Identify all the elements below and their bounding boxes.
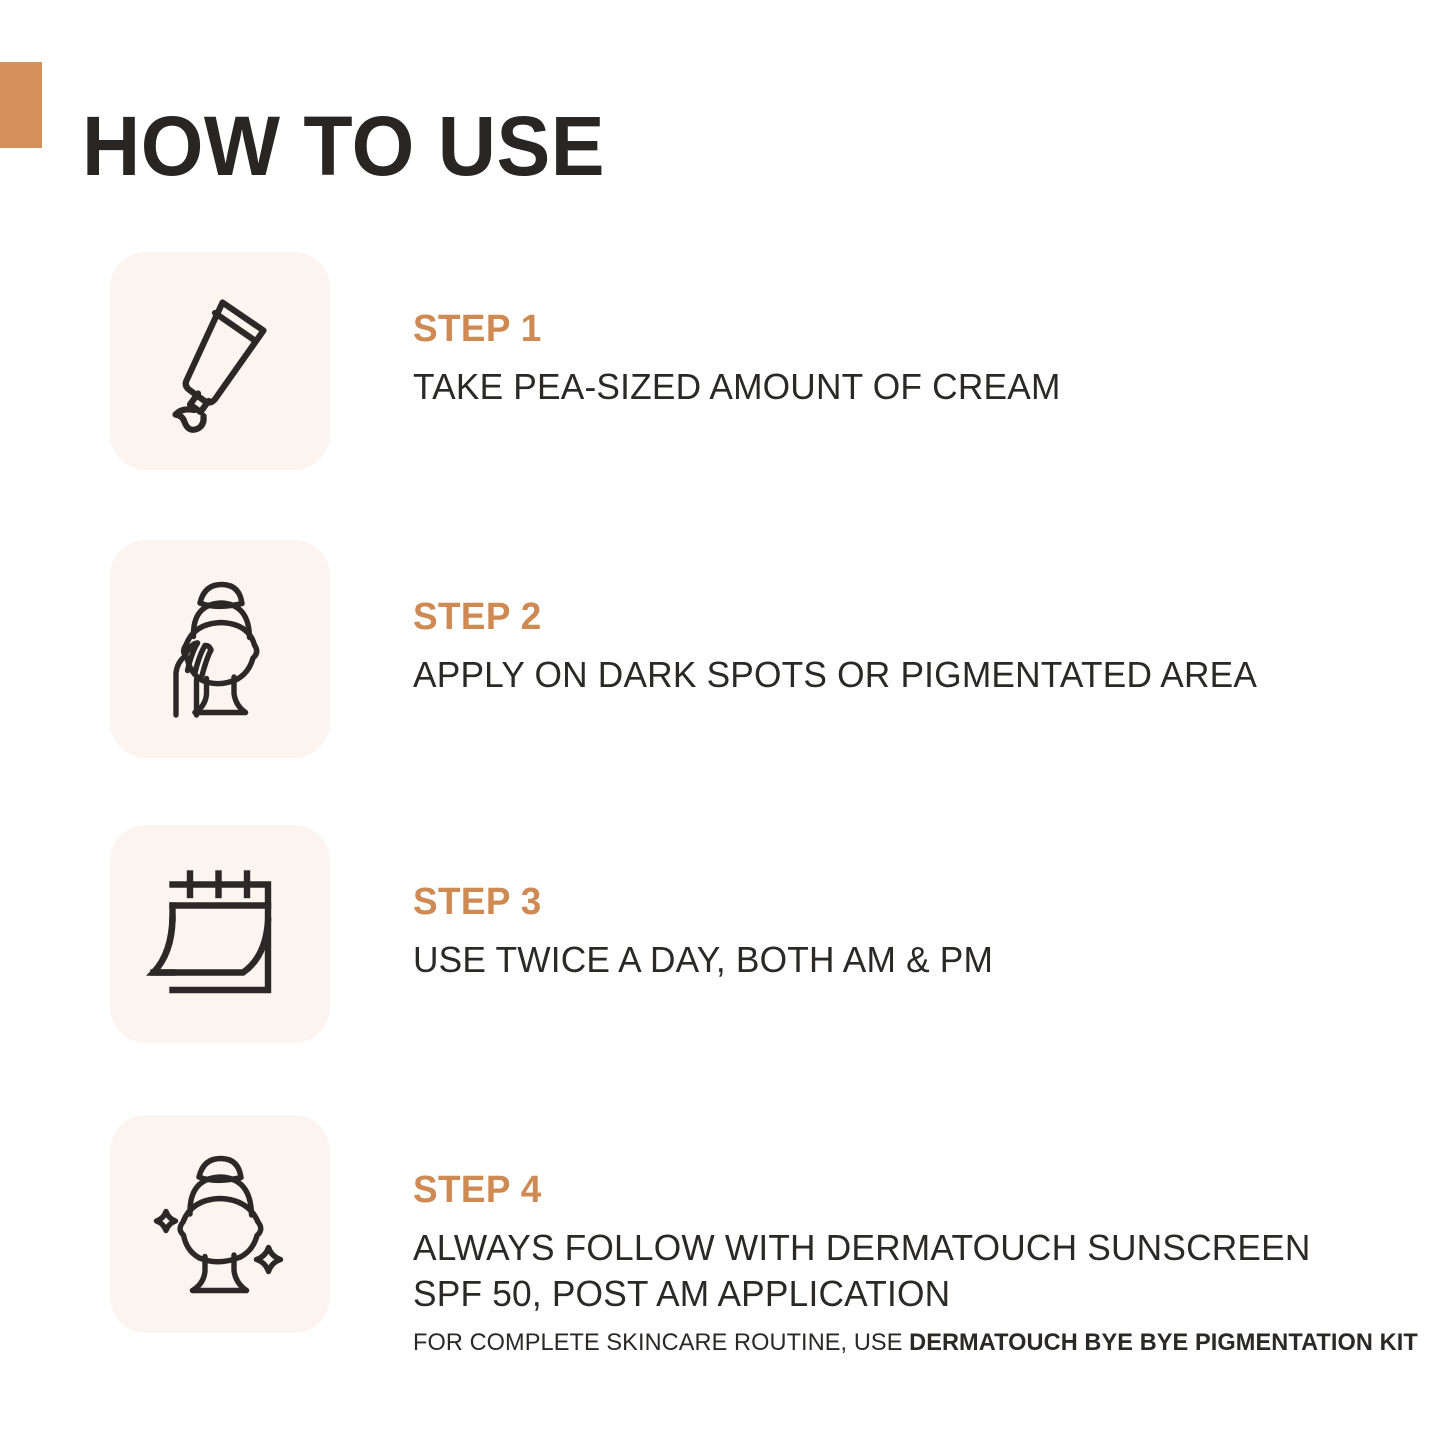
step-2-text: STEP 2 APPLY ON DARK SPOTS OR PIGMENTATE… <box>413 598 1393 698</box>
accent-bar <box>0 62 42 148</box>
calendar-icon <box>145 859 295 1009</box>
step-1-description: TAKE PEA-SIZED AMOUNT OF CREAM <box>413 364 1373 410</box>
header: HOW TO USE <box>0 0 1445 210</box>
list-item: STEP 2 APPLY ON DARK SPOTS OR PIGMENTATE… <box>0 498 1445 788</box>
step-1-icon-tile <box>110 252 330 470</box>
step-1-text: STEP 1 TAKE PEA-SIZED AMOUNT OF CREAM <box>413 310 1393 410</box>
list-item: STEP 4 ALWAYS FOLLOW WITH DERMATOUCH SUN… <box>0 1073 1445 1403</box>
list-item: STEP 3 USE TWICE A DAY, BOTH AM & PM <box>0 783 1445 1073</box>
glowing-face-sparkle-icon <box>140 1148 300 1300</box>
step-4-description-line-1: ALWAYS FOLLOW WITH DERMATOUCH SUNSCREEN <box>413 1225 1373 1271</box>
step-3-icon-tile <box>110 825 330 1043</box>
step-4-label: STEP 4 <box>413 1171 1364 1209</box>
step-3-label: STEP 3 <box>413 883 1364 921</box>
step-3-description: USE TWICE A DAY, BOTH AM & PM <box>413 937 1373 983</box>
step-2-icon-tile <box>110 540 330 758</box>
step-4-description-line-2: SPF 50, POST AM APPLICATION <box>413 1271 1373 1317</box>
face-apply-cream-icon <box>144 573 296 725</box>
step-4-note: FOR COMPLETE SKINCARE ROUTINE, USE DERMA… <box>413 1327 1373 1358</box>
cream-tube-icon <box>145 286 295 436</box>
step-4-text: STEP 4 ALWAYS FOLLOW WITH DERMATOUCH SUN… <box>413 1171 1393 1358</box>
step-2-description: APPLY ON DARK SPOTS OR PIGMENTATED AREA <box>413 652 1373 698</box>
step-3-text: STEP 3 USE TWICE A DAY, BOTH AM & PM <box>413 883 1393 983</box>
step-2-label: STEP 2 <box>413 598 1364 636</box>
page-title: HOW TO USE <box>82 104 605 188</box>
list-item: STEP 1 TAKE PEA-SIZED AMOUNT OF CREAM <box>0 210 1445 500</box>
step-4-note-prefix: FOR COMPLETE SKINCARE ROUTINE, USE <box>413 1329 909 1356</box>
step-4-note-product-name: DERMATOUCH BYE BYE PIGMENTATION KIT <box>909 1329 1418 1356</box>
step-1-label: STEP 1 <box>413 310 1364 348</box>
step-4-icon-tile <box>110 1115 330 1333</box>
